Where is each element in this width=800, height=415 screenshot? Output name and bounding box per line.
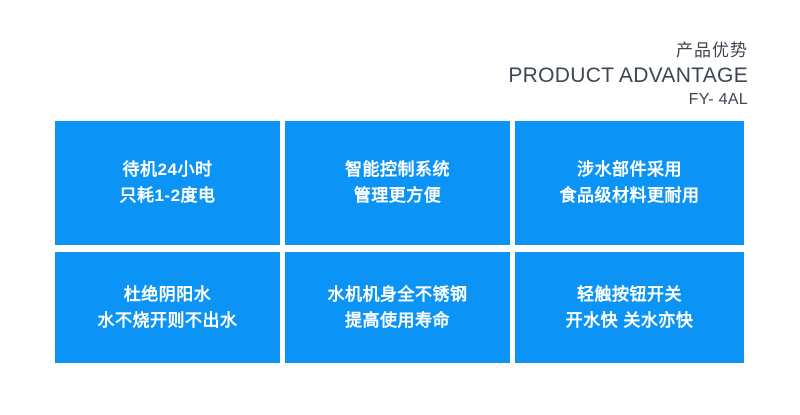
advantage-card-6: 轻触按钮开关 开水快 关水亦快 <box>515 252 744 363</box>
advantage-card-6-line2: 开水快 关水亦快 <box>566 308 694 334</box>
advantage-card-6-line1: 轻触按钮开关 <box>577 282 682 308</box>
advantage-card-3: 涉水部件采用 食品级材料更耐用 <box>515 121 744 245</box>
advantage-grid: 待机24小时 只耗1-2度电 智能控制系统 管理更方便 涉水部件采用 食品级材料… <box>55 121 745 363</box>
advantage-card-2-line1: 智能控制系统 <box>345 157 450 183</box>
product-model-number: FY- 4AL <box>0 89 748 111</box>
page-title-chinese: 产品优势 <box>0 40 748 62</box>
advantage-card-5: 水机机身全不锈钢 提高使用寿命 <box>285 252 510 363</box>
advantage-card-4: 杜绝阴阳水 水不烧开则不出水 <box>55 252 280 363</box>
advantage-card-4-line2: 水不烧开则不出水 <box>98 308 238 334</box>
advantage-card-3-line1: 涉水部件采用 <box>577 157 682 183</box>
advantage-card-1: 待机24小时 只耗1-2度电 <box>55 121 280 245</box>
advantage-card-2-line2: 管理更方便 <box>354 183 442 209</box>
advantage-card-3-line2: 食品级材料更耐用 <box>560 183 700 209</box>
product-advantage-page: 产品优势 PRODUCT ADVANTAGE FY- 4AL 待机24小时 只耗… <box>0 0 800 415</box>
advantage-card-5-line2: 提高使用寿命 <box>345 308 450 334</box>
header-block: 产品优势 PRODUCT ADVANTAGE FY- 4AL <box>0 40 748 111</box>
page-title-english: PRODUCT ADVANTAGE <box>0 62 748 89</box>
advantage-card-5-line1: 水机机身全不锈钢 <box>328 282 468 308</box>
advantage-card-1-line2: 只耗1-2度电 <box>119 183 215 209</box>
advantage-card-2: 智能控制系统 管理更方便 <box>285 121 510 245</box>
advantage-card-4-line1: 杜绝阴阳水 <box>124 282 212 308</box>
advantage-card-1-line1: 待机24小时 <box>123 157 213 183</box>
